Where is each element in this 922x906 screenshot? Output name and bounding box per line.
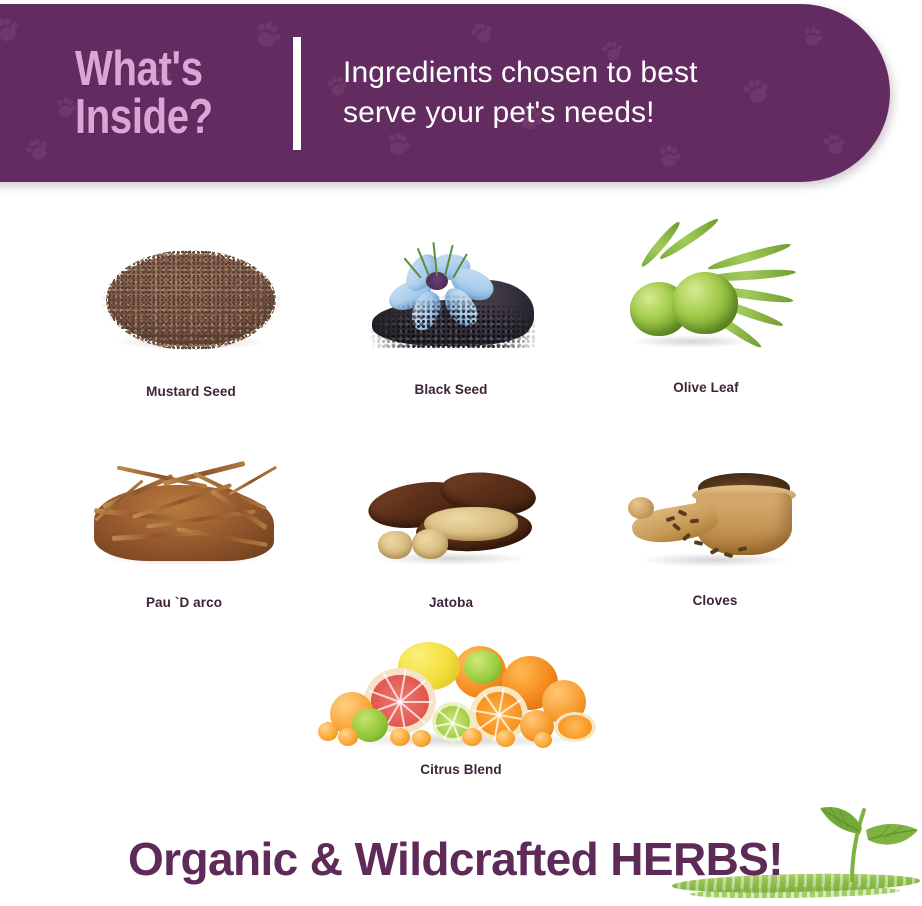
- kumquat-fruit: [412, 730, 431, 747]
- kumquat-fruit: [496, 730, 515, 747]
- ingredient-card-black-seed: Black Seed: [322, 200, 580, 415]
- footer-banner: Organic & Wildcrafted HERBS!: [0, 806, 922, 906]
- kumquat-fruit: [338, 728, 358, 746]
- ingredient-label: Jatoba: [322, 595, 580, 610]
- ingredient-card-pau-d-arco: Pau `D arco: [0, 415, 322, 630]
- ingredient-card-cloves: Cloves: [580, 415, 922, 630]
- ingredient-label: Pau `D arco: [46, 595, 322, 610]
- black-seed-photo: [322, 200, 580, 350]
- ingredient-label: Black Seed: [322, 382, 580, 397]
- ingredient-card-citrus-blend: Citrus Blend: [311, 630, 611, 790]
- ingredient-label: Cloves: [580, 593, 850, 608]
- kumquat-fruit: [534, 732, 552, 748]
- kumquat-fruit: [318, 722, 338, 741]
- olive-leaf-photo: [580, 200, 832, 350]
- ingredient-grid: Mustard Seed: [0, 200, 922, 790]
- footer-headline: Organic & Wildcrafted HERBS!: [128, 832, 783, 886]
- mustard-seed-photo: [60, 200, 322, 350]
- citrus-blend-photo: [311, 630, 611, 748]
- olive-fruit: [672, 272, 738, 334]
- jatoba-photo: [322, 415, 580, 567]
- cloves-photo: [580, 415, 850, 567]
- infographic-page: What's Inside? Ingredients chosen to bes…: [0, 0, 922, 906]
- banner-content: What's Inside? Ingredients chosen to bes…: [0, 4, 890, 182]
- orange-half: [554, 712, 596, 742]
- ingredient-row-2: Pau `D arco Jatoba: [0, 415, 922, 630]
- plant-sprout-icon: [790, 804, 920, 882]
- banner-divider: [293, 37, 301, 150]
- header-banner: What's Inside? Ingredients chosen to bes…: [0, 4, 895, 184]
- ingredient-label: Mustard Seed: [60, 384, 322, 399]
- lime-fruit: [464, 650, 502, 684]
- ingredient-card-mustard-seed: Mustard Seed: [0, 200, 322, 415]
- pau-d-arco-photo: [46, 415, 322, 567]
- wooden-scoop-handle: [628, 497, 654, 519]
- ingredient-card-olive-leaf: Olive Leaf: [580, 200, 922, 415]
- kumquat-fruit: [462, 728, 482, 746]
- banner-headline: What's Inside?: [75, 45, 213, 142]
- kumquat-fruit: [390, 728, 410, 746]
- ingredient-label: Citrus Blend: [311, 762, 611, 777]
- ingredient-row-1: Mustard Seed: [0, 200, 922, 415]
- ingredient-label: Olive Leaf: [580, 380, 832, 395]
- ingredient-row-3: Citrus Blend: [0, 630, 922, 790]
- banner-shape: What's Inside? Ingredients chosen to bes…: [0, 4, 890, 182]
- banner-subheadline: Ingredients chosen to best serve your pe…: [343, 53, 698, 133]
- ingredient-card-jatoba: Jatoba: [322, 415, 580, 630]
